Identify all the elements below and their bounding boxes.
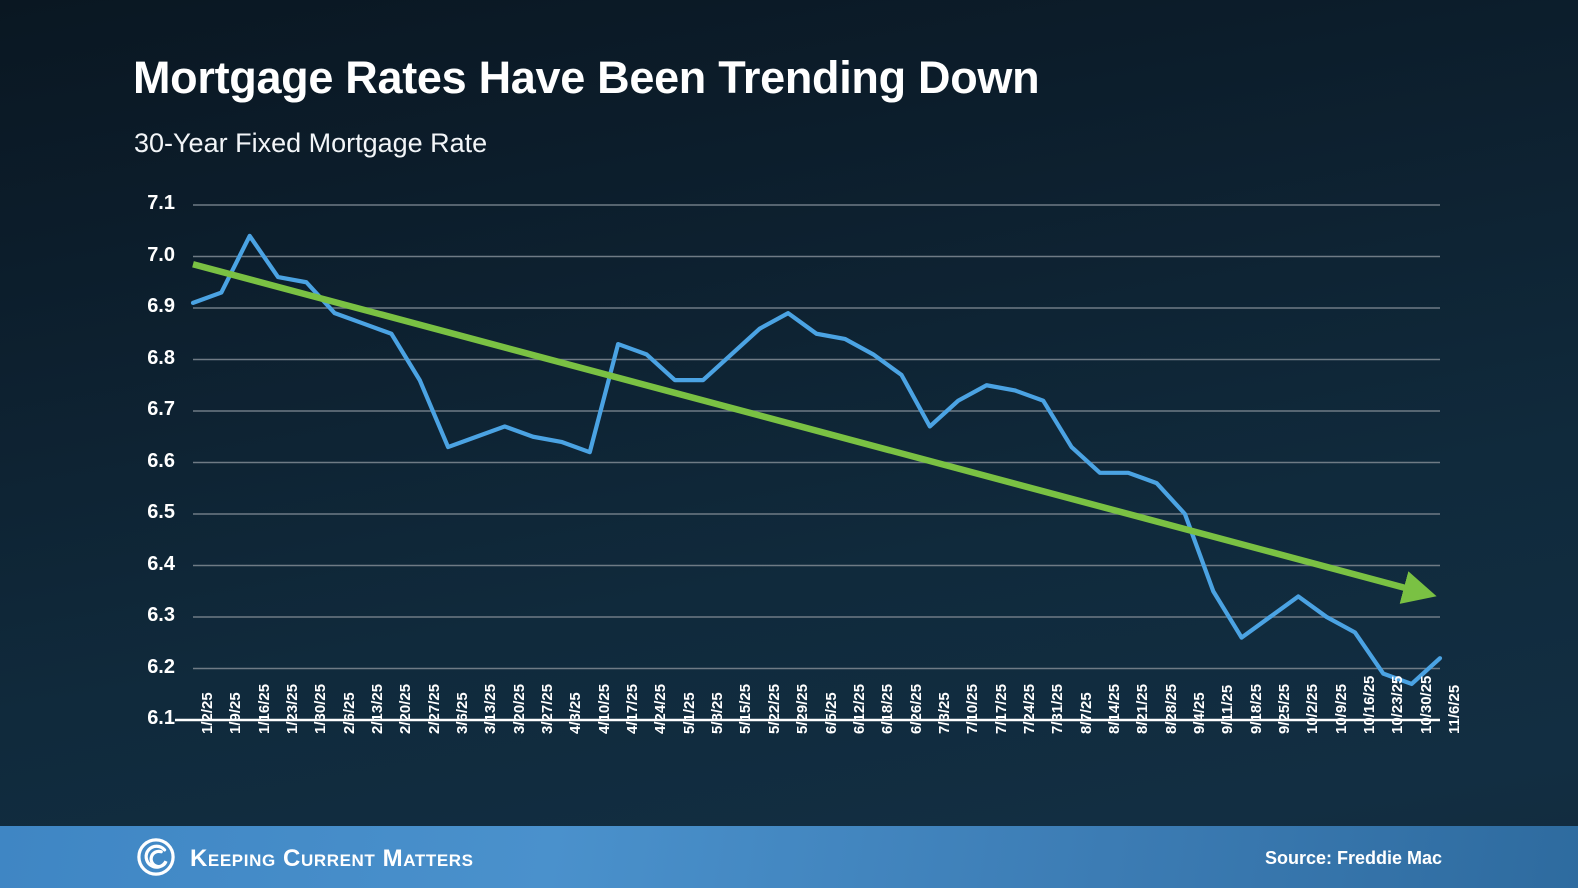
x-axis-tick-label: 8/28/25 (1163, 684, 1180, 734)
x-axis-tick-label: 4/3/25 (567, 692, 584, 734)
footer-bar: Keeping Current Matters Source: Freddie … (0, 826, 1578, 888)
downward-trend-arrow (193, 264, 1414, 590)
x-axis-tick-label: 10/9/25 (1333, 684, 1350, 734)
y-axis-tick-label: 6.5 (121, 501, 175, 524)
x-axis-tick-label: 2/27/25 (426, 684, 443, 734)
y-axis-tick-label: 7.1 (121, 192, 175, 215)
source-attribution: Source: Freddie Mac (1265, 848, 1442, 869)
x-axis-tick-label: 1/30/25 (312, 684, 329, 734)
x-axis-tick-label: 7/31/25 (1049, 684, 1066, 734)
x-axis-tick-label: 8/21/25 (1134, 684, 1151, 734)
x-axis-tick-label: 5/22/25 (766, 684, 783, 734)
x-axis-tick-label: 9/25/25 (1276, 684, 1293, 734)
x-axis-tick-label: 3/20/25 (511, 684, 528, 734)
y-axis-tick-label: 6.3 (121, 604, 175, 627)
kcm-spiral-logo-icon (137, 838, 175, 876)
x-axis-tick-label: 2/6/25 (341, 692, 358, 734)
chart-slide: Mortgage Rates Have Been Trending Down 3… (0, 0, 1578, 888)
x-axis-tick-label: 3/13/25 (482, 684, 499, 734)
y-axis-tick-label: 6.8 (121, 347, 175, 370)
y-axis-tick-label: 6.6 (121, 450, 175, 473)
x-axis-tick-label: 9/11/25 (1219, 685, 1236, 734)
x-axis-tick-label: 2/13/25 (369, 684, 386, 734)
x-axis-tick-label: 3/6/25 (454, 692, 471, 734)
x-axis-tick-label: 10/30/25 (1418, 676, 1435, 734)
chart-gridlines (193, 205, 1440, 720)
x-axis-tick-label: 7/24/25 (1021, 684, 1038, 734)
y-axis-tick-label: 6.4 (121, 553, 175, 576)
x-axis-tick-label: 8/7/25 (1078, 692, 1095, 734)
x-axis-tick-label: 8/14/25 (1106, 684, 1123, 734)
x-axis-tick-label: 6/26/25 (908, 684, 925, 734)
y-axis-tick-label: 6.1 (121, 707, 175, 730)
x-axis-tick-label: 1/9/25 (227, 692, 244, 734)
x-axis-tick-label: 6/5/25 (823, 692, 840, 734)
x-axis-tick-label: 7/3/25 (936, 692, 953, 734)
x-axis-tick-label: 4/10/25 (596, 684, 613, 734)
x-axis-tick-label: 2/20/25 (397, 684, 414, 734)
x-axis-tick-label: 6/18/25 (879, 684, 896, 734)
x-axis-tick-label: 3/27/25 (539, 684, 556, 734)
x-axis-tick-label: 5/8/25 (709, 692, 726, 734)
x-axis-tick-label: 5/1/25 (681, 692, 698, 734)
x-axis-tick-label: 10/16/25 (1361, 676, 1378, 734)
chart-plot-area: 7.17.06.96.86.76.66.56.46.36.26.1 1/2/25… (0, 0, 1578, 830)
x-axis-tick-label: 1/2/25 (199, 692, 216, 734)
x-axis-tick-label: 1/23/25 (284, 684, 301, 734)
y-axis-tick-label: 6.7 (121, 398, 175, 421)
x-axis-tick-label: 7/10/25 (964, 684, 981, 734)
x-axis-tick-label: 11/6/25 (1446, 685, 1463, 734)
x-axis-tick-label: 1/16/25 (256, 684, 273, 734)
x-axis-tick-label: 5/29/25 (794, 684, 811, 734)
x-axis-tick-label: 9/4/25 (1191, 692, 1208, 734)
y-axis-tick-label: 6.2 (121, 656, 175, 679)
x-axis-tick-label: 10/2/25 (1304, 684, 1321, 734)
x-axis-tick-label: 4/17/25 (624, 684, 641, 734)
x-axis-tick-label: 4/24/25 (652, 684, 669, 734)
x-axis-tick-label: 7/17/25 (993, 684, 1010, 734)
brand-name: Keeping Current Matters (190, 845, 474, 873)
x-axis-tick-label: 9/18/25 (1248, 684, 1265, 734)
y-axis-tick-label: 7.0 (121, 244, 175, 267)
x-axis-tick-label: 10/23/25 (1389, 676, 1406, 734)
x-axis-tick-label: 6/12/25 (851, 684, 868, 734)
x-axis-tick-label: 5/15/25 (737, 684, 754, 734)
y-axis-tick-label: 6.9 (121, 295, 175, 318)
